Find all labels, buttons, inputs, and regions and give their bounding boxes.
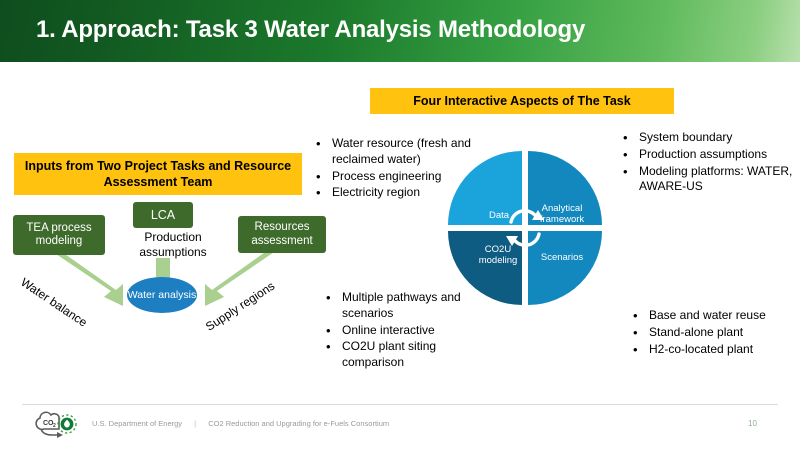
four-quadrant-wheel: Data Analytical framework CO2U modeling …: [445, 148, 605, 308]
bullets-scenarios: Base and water reuse Stand-alone plant H…: [632, 308, 800, 358]
list-item: Base and water reuse: [632, 308, 800, 324]
node-water-analysis-label: Water analysis: [128, 289, 196, 301]
list-item: H2-co-located plant: [632, 342, 800, 358]
quadrant-scenarios: [528, 231, 602, 305]
four-aspects-title-box: Four Interactive Aspects of The Task: [370, 88, 674, 114]
left-inputs-diagram: Inputs from Two Project Tasks and Resour…: [0, 140, 330, 340]
list-item: Stand-alone plant: [632, 325, 800, 341]
page-number: 10: [748, 419, 757, 428]
box-resources-assessment: Resources assessment: [238, 216, 326, 253]
page-title: 1. Approach: Task 3 Water Analysis Metho…: [36, 16, 585, 44]
list-item: CO2U plant siting comparison: [325, 339, 500, 371]
list-item: System boundary: [622, 130, 797, 146]
slide-canvas: 1. Approach: Task 3 Water Analysis Metho…: [0, 0, 800, 450]
list-item: Production assumptions: [622, 147, 797, 163]
footer-separator: |: [194, 419, 196, 428]
box-tea-process-modeling: TEA process modeling: [13, 215, 105, 255]
co2-efuels-consortium-logo: CO 2: [30, 409, 82, 441]
footer-consortium: CO2 Reduction and Upgrading for e-Fuels …: [208, 419, 389, 428]
label-production-assumptions: Production assumptions: [127, 230, 219, 259]
list-item: Online interactive: [325, 323, 500, 339]
footer-divider: [22, 404, 778, 405]
list-item: Modeling platforms: WATER, AWARE-US: [622, 164, 797, 196]
box-lca: LCA: [133, 202, 193, 228]
co2-subscript: 2: [53, 423, 56, 429]
bullets-analytical-framework: System boundary Production assumptions M…: [622, 130, 797, 196]
arrow-head: [57, 432, 63, 438]
footer-text: U.S. Department of Energy | CO2 Reductio…: [92, 419, 389, 428]
node-water-analysis: Water analysis: [127, 277, 197, 313]
footer-org: U.S. Department of Energy: [92, 419, 182, 428]
quadrant-data: [448, 151, 522, 225]
